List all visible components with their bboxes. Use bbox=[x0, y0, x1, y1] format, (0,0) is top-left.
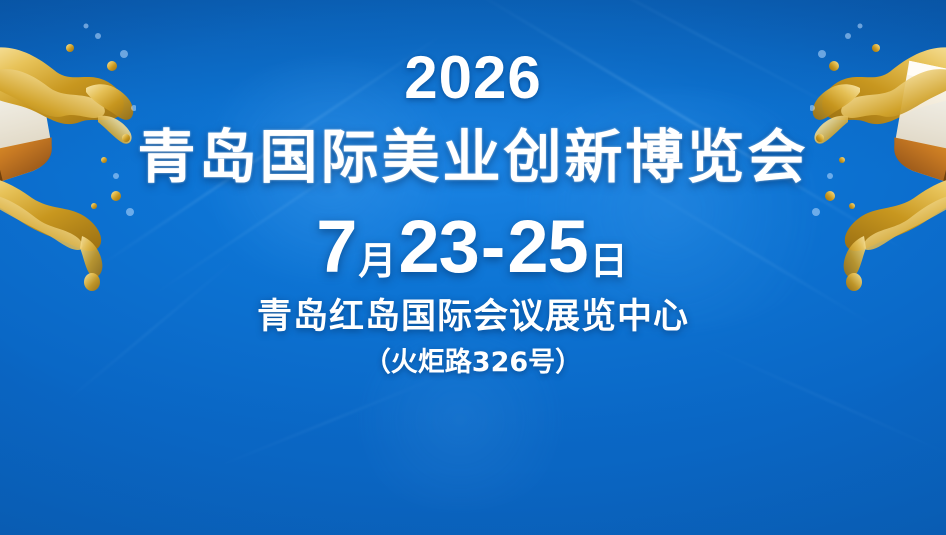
event-year: 2026 bbox=[404, 48, 541, 108]
date-day-end: 25 bbox=[507, 210, 587, 284]
event-address: （火炬路326号） bbox=[364, 349, 582, 376]
date-day-start: 23 bbox=[398, 210, 478, 284]
date-month-number: 7 bbox=[316, 210, 356, 284]
date-day-label: 日 bbox=[588, 242, 630, 284]
banner-content: 2026 青岛国际美业创新博览会 7 月 23 - 25 日 青岛红岛国际会议展… bbox=[0, 0, 946, 535]
date-range-dash: - bbox=[479, 210, 508, 284]
date-month-label: 月 bbox=[356, 242, 398, 284]
page-title: 青岛国际美业创新博览会 bbox=[137, 128, 808, 186]
event-date: 7 月 23 - 25 日 bbox=[316, 210, 629, 284]
event-venue: 青岛红岛国际会议展览中心 bbox=[257, 300, 689, 335]
expo-banner: 2026 青岛国际美业创新博览会 7 月 23 - 25 日 青岛红岛国际会议展… bbox=[0, 0, 946, 535]
